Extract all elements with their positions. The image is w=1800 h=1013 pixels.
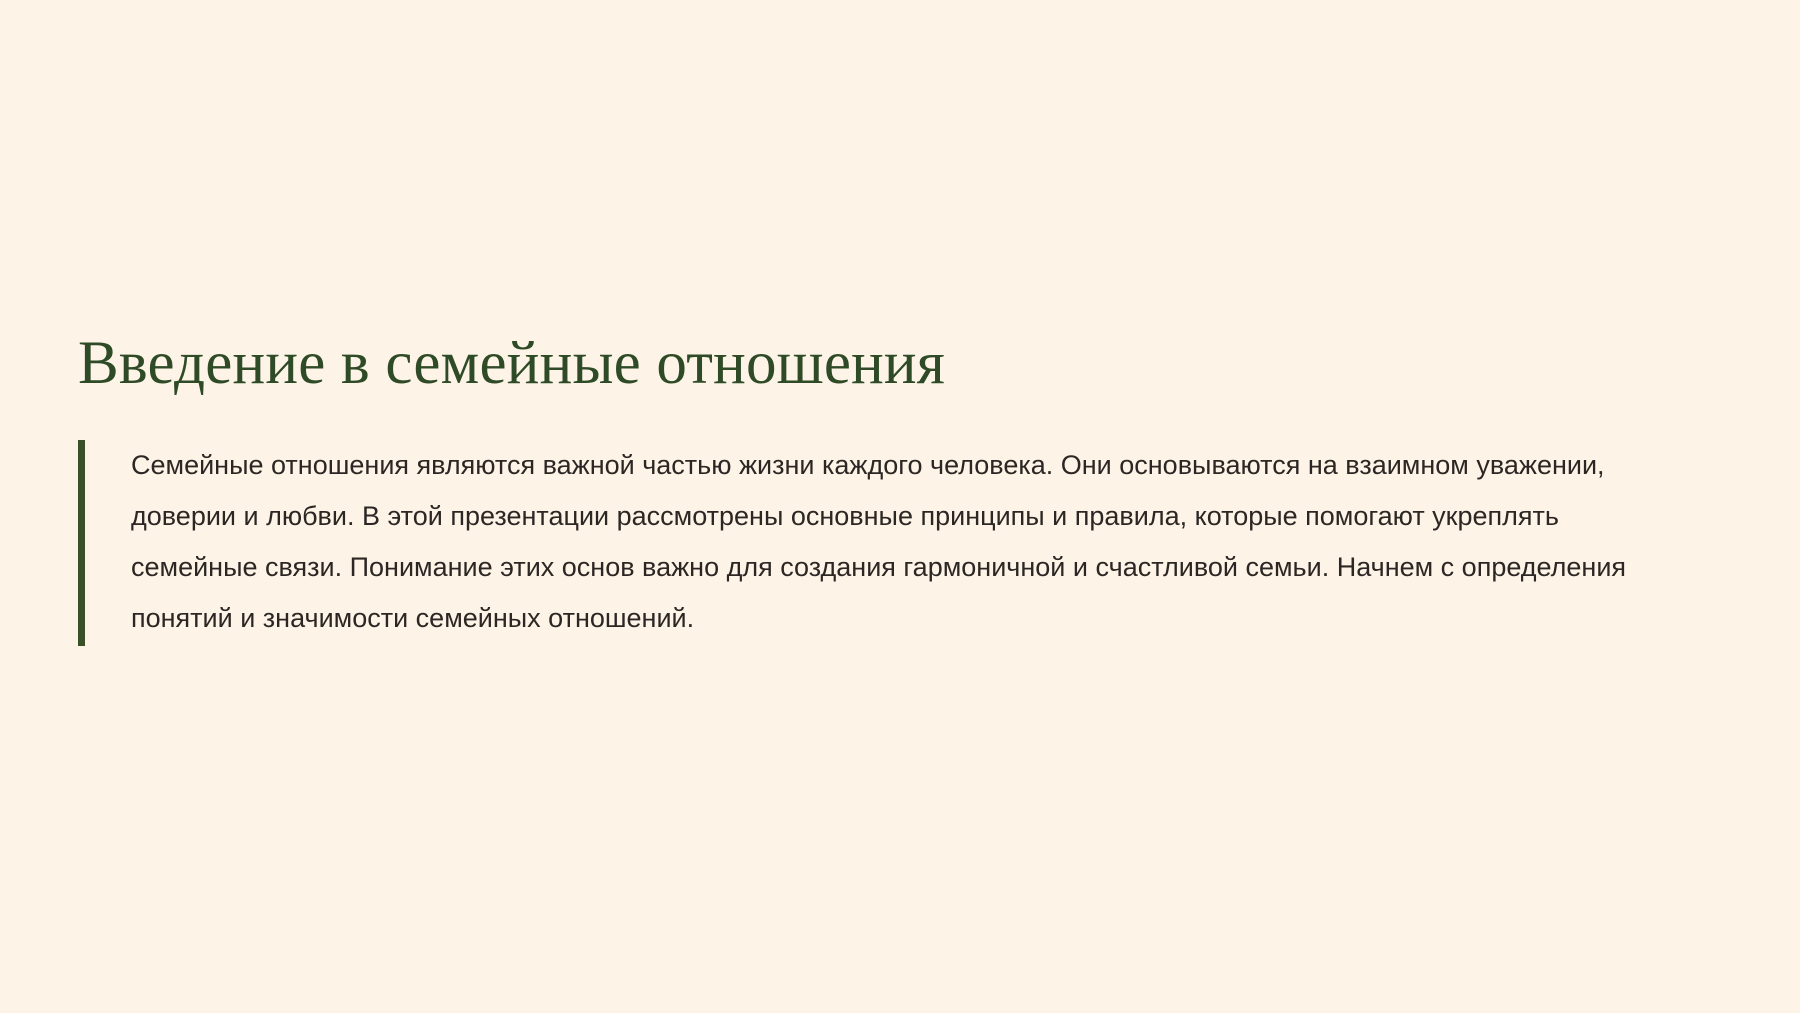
slide-title: Введение в семейные отношения — [78, 330, 1738, 398]
slide-body-text: Семейные отношения являются важной часть… — [131, 440, 1691, 644]
slide-content: Введение в семейные отношения Семейные о… — [78, 330, 1738, 646]
accent-bar — [78, 440, 85, 646]
presentation-slide: Введение в семейные отношения Семейные о… — [0, 0, 1800, 1013]
slide-body-block: Семейные отношения являются важной часть… — [78, 440, 1738, 646]
